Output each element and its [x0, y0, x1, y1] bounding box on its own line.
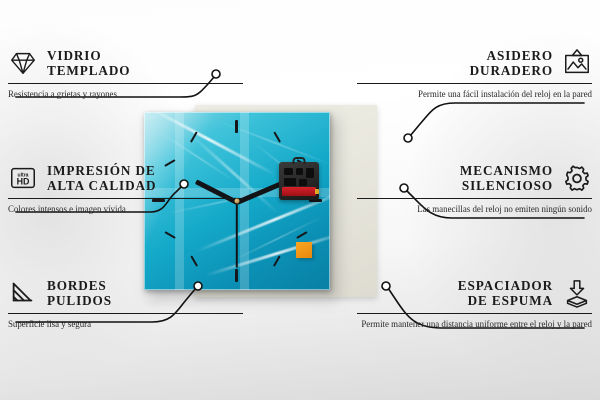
feature-title-line2: DURADERO: [470, 63, 553, 78]
hand-center-cap: [235, 199, 240, 204]
feature-high-quality-print: ultra HD IMPRESIÓN DE ALTA CALIDAD Color…: [8, 163, 243, 216]
feature-title-line2: PULIDOS: [47, 293, 112, 308]
foam-spacer-pad: [296, 242, 312, 258]
feature-description: Permite una fácil instalación del reloj …: [357, 89, 592, 101]
divider: [8, 198, 243, 200]
infographic-stage: VIDRIO TEMPLADO Resistencia a grietas y …: [0, 0, 600, 400]
picture-frame-hanger-icon: [562, 48, 592, 78]
feature-header: ultra HD IMPRESIÓN DE ALTA CALIDAD: [8, 163, 243, 194]
divider: [8, 313, 243, 315]
feature-title-line1: MECANISMO: [460, 163, 553, 178]
feature-foam-spacer: ESPACIADOR DE ESPUMA Permite mantener un…: [357, 278, 592, 331]
hotspot-marker: [404, 134, 412, 142]
feature-header: ESPACIADOR DE ESPUMA: [357, 278, 592, 309]
feature-title-line2: SILENCIOSO: [460, 178, 553, 193]
gear-icon: [562, 163, 592, 193]
feature-header: MECANISMO SILENCIOSO: [357, 163, 592, 194]
feature-description: Permite mantener una distancia uniforme …: [357, 319, 592, 331]
feature-title-line2: ALTA CALIDAD: [47, 178, 156, 193]
feature-description: Colores intensos e imagen vívida: [8, 204, 243, 216]
divider: [8, 83, 243, 85]
feature-title-line2: DE ESPUMA: [458, 293, 553, 308]
polished-edge-icon: [8, 278, 38, 308]
diamond-icon: [8, 48, 38, 78]
feature-title-line1: ASIDERO: [470, 48, 553, 63]
divider: [357, 83, 592, 85]
ultra-hd-icon: ultra HD: [8, 163, 38, 193]
feature-durable-hanger: ASIDERO DURADERO Permite una fácil insta…: [357, 48, 592, 101]
clock-mechanism: [279, 162, 319, 200]
feature-description: Superficie lisa y segura: [8, 319, 243, 331]
divider: [357, 198, 592, 200]
feature-title-line1: VIDRIO: [47, 48, 130, 63]
feature-silent-mechanism: MECANISMO SILENCIOSO Las manecillas del …: [357, 163, 592, 216]
feature-header: VIDRIO TEMPLADO: [8, 48, 243, 79]
feature-description: Las manecillas del reloj no emiten ningú…: [357, 204, 592, 216]
battery: [282, 187, 316, 196]
feature-title-line1: IMPRESIÓN DE: [47, 163, 156, 178]
feature-header: ASIDERO DURADERO: [357, 48, 592, 79]
feature-title-line2: TEMPLADO: [47, 63, 130, 78]
feature-header: BORDES PULIDOS: [8, 278, 243, 309]
feature-polished-edges: BORDES PULIDOS Superficie lisa y segura: [8, 278, 243, 331]
svg-text:HD: HD: [17, 177, 30, 187]
feature-title-line1: ESPACIADOR: [458, 278, 553, 293]
hanger-hook-icon: [293, 157, 306, 164]
feature-description: Resistencia a grietas y rayones: [8, 89, 243, 101]
feature-title-line1: BORDES: [47, 278, 112, 293]
divider: [357, 313, 592, 315]
arrow-onto-layers-icon: [562, 278, 592, 308]
feature-tempered-glass: VIDRIO TEMPLADO Resistencia a grietas y …: [8, 48, 243, 101]
